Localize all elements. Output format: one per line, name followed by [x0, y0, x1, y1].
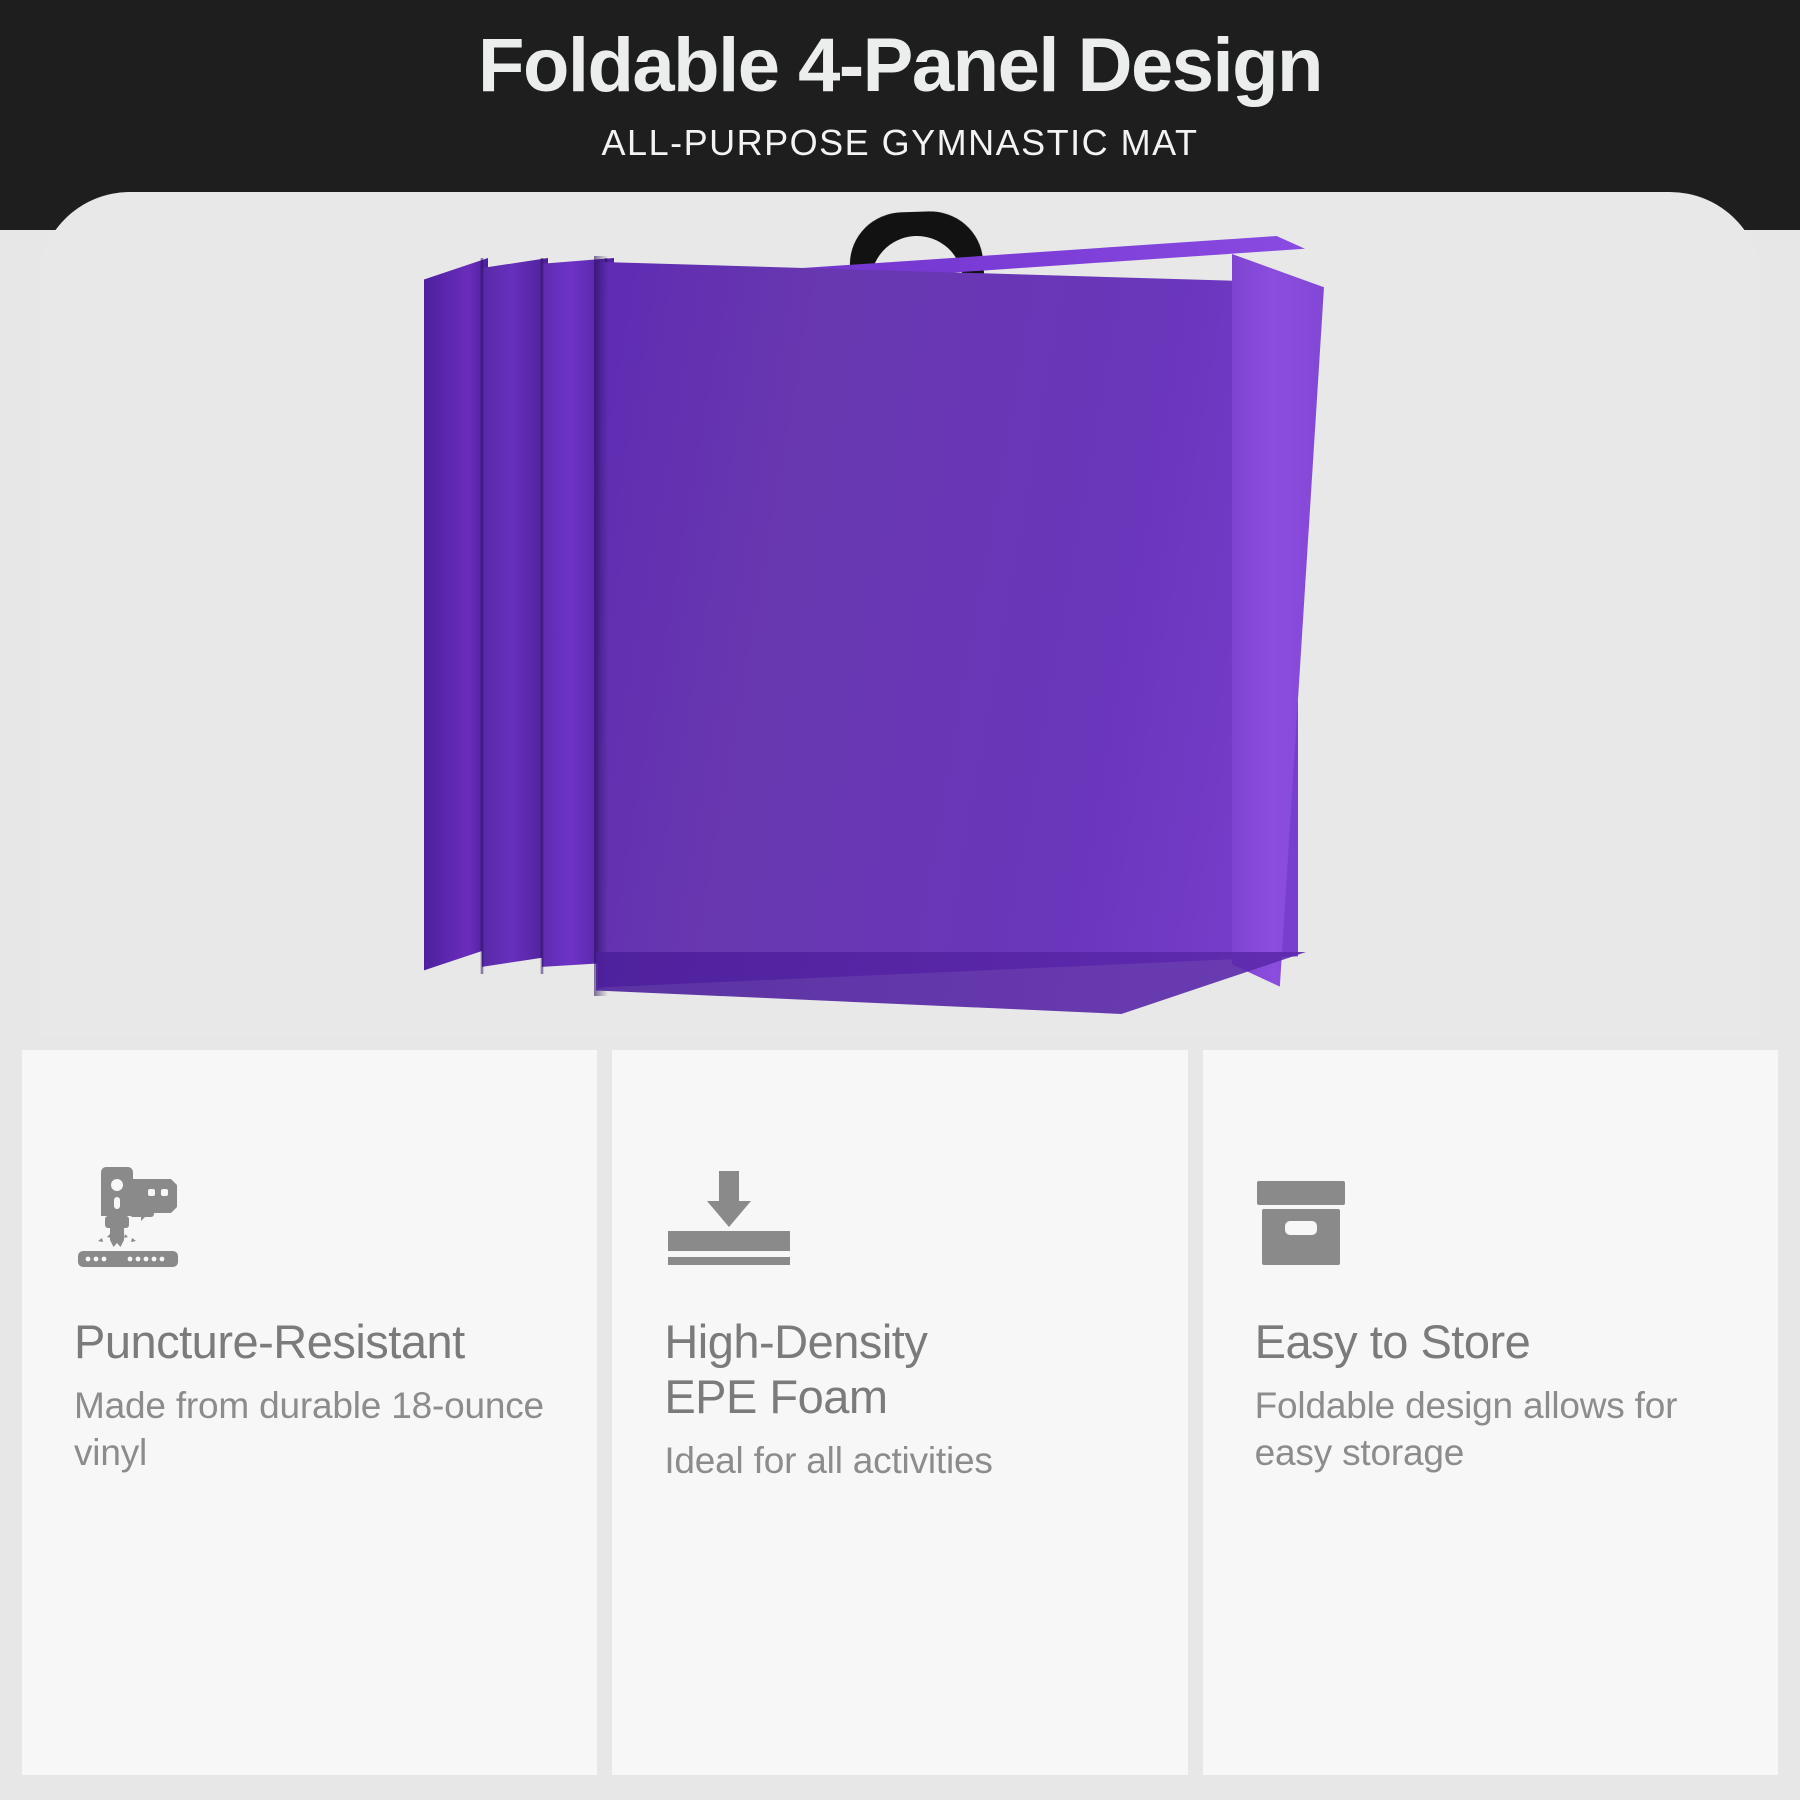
folded-panel-1: [424, 258, 488, 974]
mat-front-face: [598, 250, 1298, 992]
feature-title: High-Density EPE Foam: [664, 1315, 1135, 1425]
mat-right-edge: [1232, 254, 1324, 994]
feature-card-puncture-resistant: Puncture-Resistant Made from durable 18-…: [22, 1050, 597, 1775]
feature-card-row: Puncture-Resistant Made from durable 18-…: [22, 1050, 1778, 1775]
mat-bottom-edge: [596, 952, 1306, 1014]
hero-product-panel: [38, 192, 1762, 1037]
feature-title: Puncture-Resistant: [74, 1315, 545, 1370]
page-subtitle: ALL-PURPOSE GYMNASTIC MAT: [0, 106, 1800, 164]
page-title: Foldable 4-Panel Design: [0, 0, 1800, 106]
feature-description: Made from durable 18-ounce vinyl: [74, 1370, 545, 1477]
feature-card-easy-to-store: Easy to Store Foldable design allows for…: [1203, 1050, 1778, 1775]
panel-seam-1: [480, 258, 484, 974]
feature-title: Easy to Store: [1255, 1315, 1726, 1370]
feature-card-high-density-foam: High-Density EPE Foam Ideal for all acti…: [612, 1050, 1187, 1775]
folded-panel-stack: [424, 258, 610, 974]
storage-box-icon: [1255, 1155, 1726, 1267]
panel-seam-2: [540, 258, 544, 974]
mat-fold-shadow: [594, 256, 608, 996]
folded-panel-2: [482, 258, 548, 974]
feature-description: Foldable design allows for easy storage: [1255, 1370, 1726, 1477]
feature-description: Ideal for all activities: [664, 1425, 1135, 1484]
drill-puncture-icon: [74, 1155, 545, 1267]
product-image-gymnastic-mat: [38, 192, 1762, 1037]
foam-compression-icon: [664, 1155, 1135, 1267]
